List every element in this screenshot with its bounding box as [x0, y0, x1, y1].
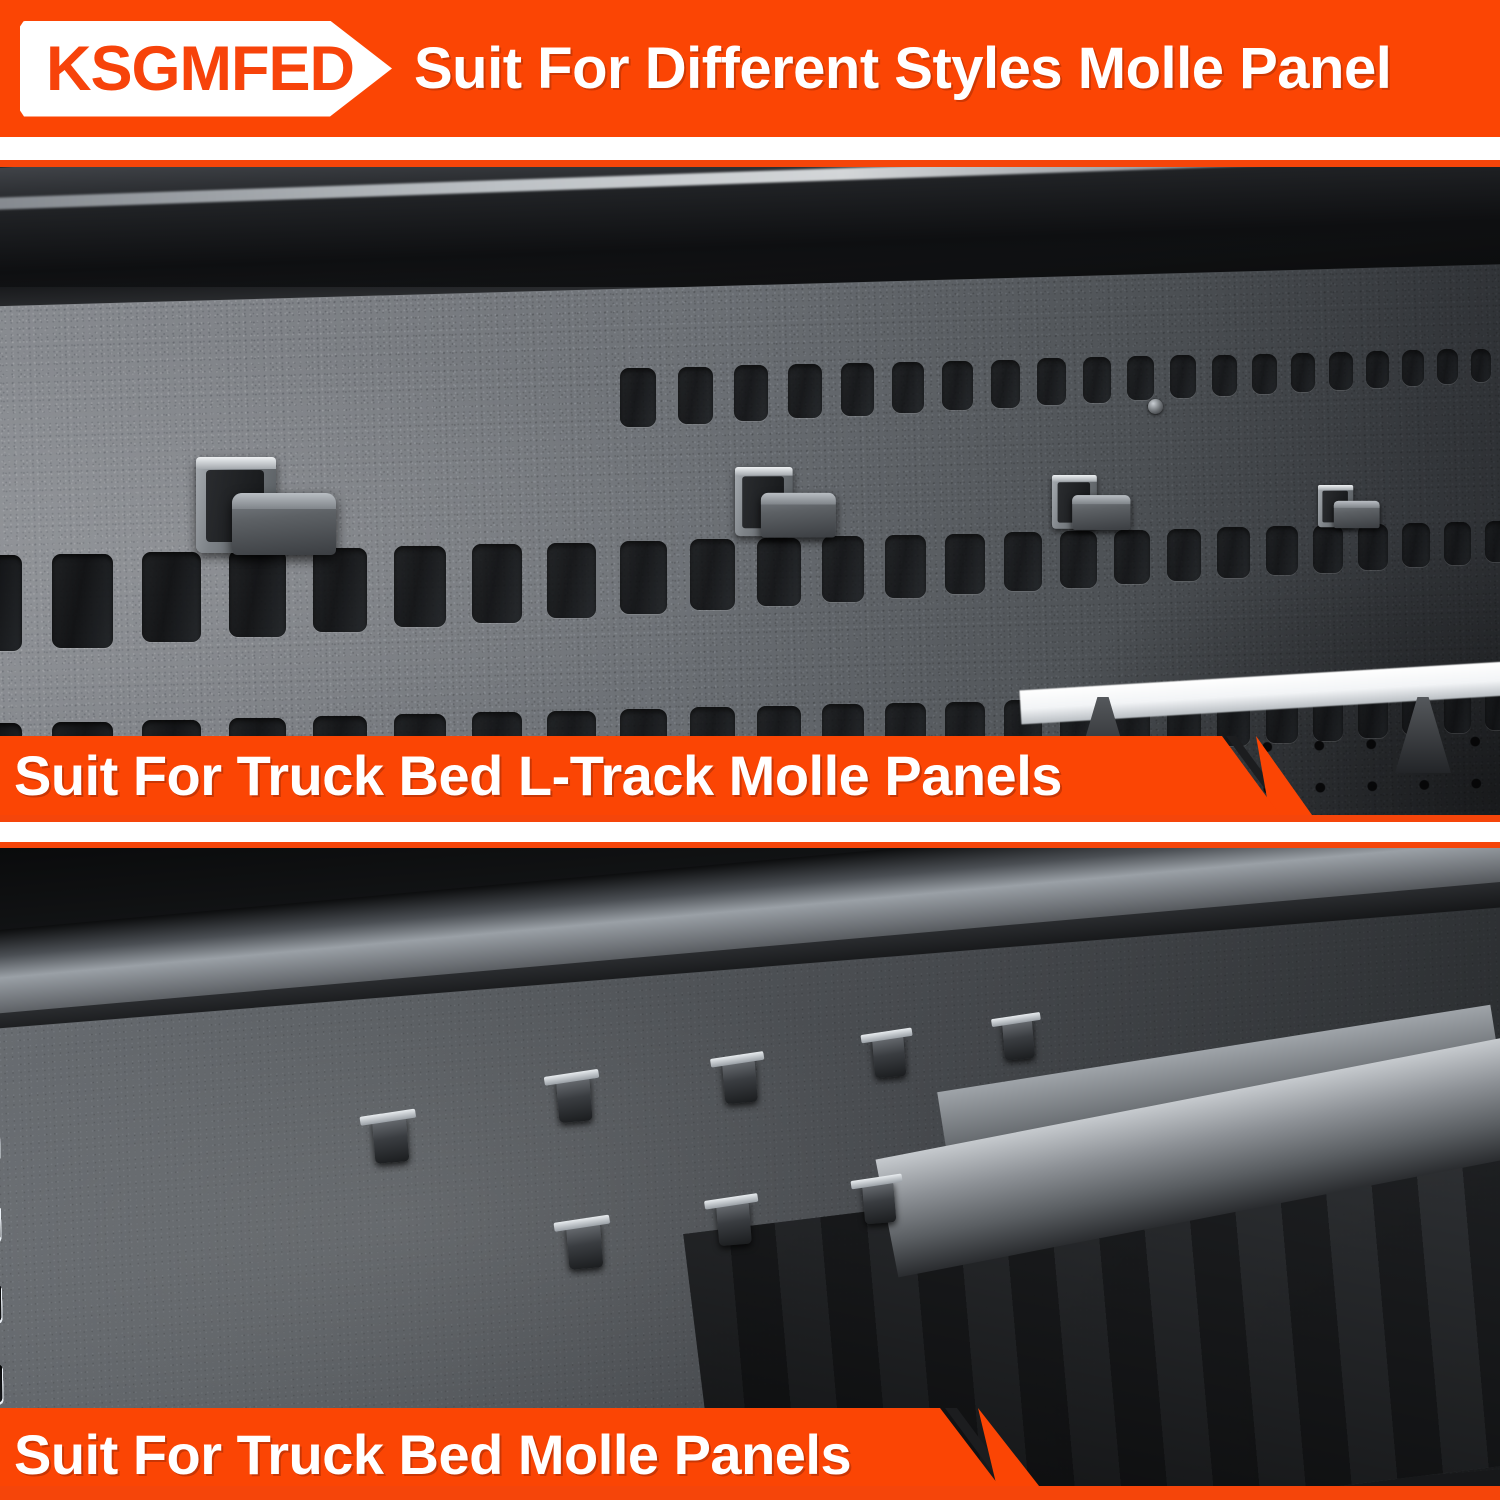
top-photo [0, 167, 1500, 815]
molle-slot [841, 363, 873, 416]
molle-hook-small [556, 1077, 593, 1123]
molle-slot [472, 544, 523, 622]
molle-slot [1167, 529, 1201, 582]
molle-slot [52, 554, 113, 648]
molle-slot [142, 552, 201, 643]
molle-slot [991, 360, 1021, 408]
molle-slot [757, 538, 801, 606]
molle-slot [620, 541, 667, 614]
molle-hook-small [862, 1181, 896, 1224]
header-white-gap [0, 137, 1500, 160]
mid-banner-text: Suit For Truck Bed L-Track Molle Panels [0, 743, 1062, 808]
hook-back-lip [735, 467, 793, 476]
molle-slot [1366, 351, 1389, 388]
molle-slot [1402, 523, 1430, 567]
molle-slot [1060, 531, 1097, 588]
molle-slot [313, 548, 367, 632]
molle-slot [1217, 527, 1250, 578]
molle-slot [1037, 358, 1066, 405]
molle-slot [690, 539, 735, 609]
bottom-photo [0, 848, 1500, 1500]
molle-slot [678, 367, 713, 425]
molle-hook-small [566, 1223, 603, 1270]
orange-rule-divider-top [0, 815, 1500, 822]
molle-slot [620, 368, 656, 427]
molle-slot [788, 364, 821, 418]
molle-hook-small [372, 1117, 409, 1164]
molle-slot [1444, 522, 1471, 564]
brand-tag: KSGMFED [20, 21, 392, 117]
molle-slot [1083, 357, 1111, 402]
molle-slot [892, 362, 923, 413]
panel-screw [1148, 399, 1163, 414]
molle-slot [1313, 525, 1344, 572]
header-bar: KSGMFED Suit For Different Styles Molle … [0, 0, 1500, 137]
molle-slot [0, 555, 22, 651]
molle-slot [942, 361, 973, 411]
divider-white-gap [0, 822, 1500, 842]
hook-back-lip [1318, 485, 1353, 490]
brand-name: KSGMFED [20, 21, 354, 117]
molle-slot [1127, 356, 1154, 400]
molle-slot [1437, 349, 1458, 384]
molle-slot [1329, 352, 1352, 390]
molle-hook-small [722, 1059, 758, 1104]
molle-slot [1485, 521, 1500, 562]
molle-slot [1170, 355, 1196, 398]
bottom-banner-text: Suit For Truck Bed Molle Panels [0, 1422, 851, 1487]
hook-front-top [232, 493, 336, 509]
molle-slot [822, 536, 864, 601]
molle-slot [547, 543, 596, 619]
molle-slot [1266, 526, 1298, 575]
mid-banner: Suit For Truck Bed L-Track Molle Panels [0, 736, 1280, 815]
molle-slot [394, 546, 447, 627]
hook-back-lip [1052, 475, 1097, 482]
header-title: Suit For Different Styles Molle Panel [414, 35, 1391, 102]
molle-slot [1402, 350, 1424, 386]
molle-slot [1471, 349, 1492, 383]
product-marketing-image: KSGMFED Suit For Different Styles Molle … [0, 0, 1500, 1500]
molle-slot [1291, 353, 1315, 392]
molle-slot [1212, 355, 1238, 396]
bottom-orange-strip [0, 1486, 1500, 1500]
molle-slot [1252, 354, 1277, 394]
molle-slot [734, 365, 768, 421]
molle-slot [1114, 530, 1149, 585]
hook-front-top [761, 493, 836, 505]
orange-rule-top [0, 160, 1500, 167]
molle-slot [885, 535, 926, 598]
molle-slot [1004, 532, 1042, 591]
hook-front-top [1072, 495, 1130, 504]
molle-slot [229, 550, 286, 637]
hook-back-lip [196, 457, 276, 469]
molle-hook-small [872, 1035, 906, 1078]
molle-hook-small [1002, 1020, 1035, 1061]
hook-front-top [1334, 501, 1380, 508]
molle-slot [945, 534, 984, 595]
molle-slot [1358, 524, 1387, 570]
molle-hook-small [716, 1201, 752, 1246]
